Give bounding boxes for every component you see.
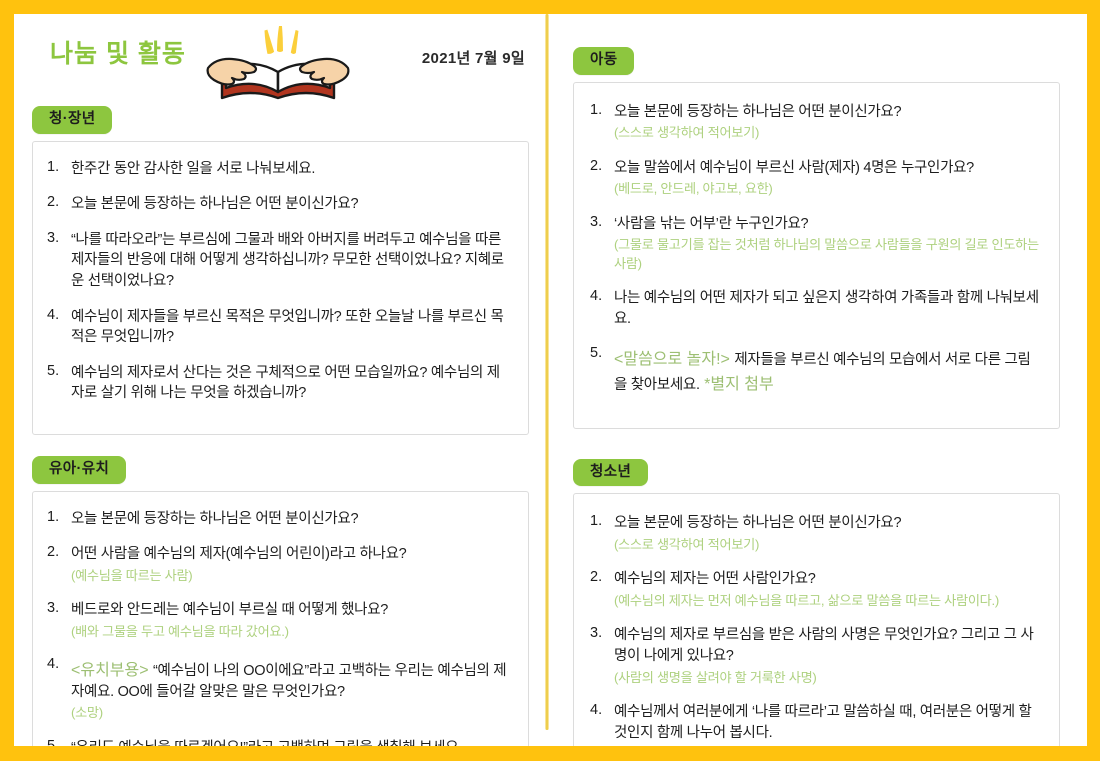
question-text: 어떤 사람을 예수님의 제자(예수님의 어린이)라고 하나요? [71,546,406,562]
worksheet-page: 나눔 및 활동 [14,14,1087,746]
badge-row-youth: 청소년 [573,459,1060,487]
question-text: 한주간 동안 감사한 일을 서로 나눠보세요. [71,161,315,177]
list-item: ‘사람을 낚는 어부’란 누구인가요? (그물로 물고기를 잡는 것처럼 하나님… [590,214,1043,274]
question-text: 예수님께서 여러분에게 ‘나를 따르라’고 말씀하실 때, 여러분은 어떻게 할… [614,704,1032,741]
question-list-adults: 한주간 동안 감사한 일을 서로 나눠보세요. 오늘 본문에 등장하는 하나님은… [47,159,512,404]
question-text: 오늘 본문에 등장하는 하나님은 어떤 분이신가요? [614,515,901,531]
question-note: (스스로 생각하여 적어보기) [614,124,1043,142]
open-book-with-hands-icon [202,22,354,110]
question-note: (소망) [71,704,512,722]
question-list-youth: 오늘 본문에 등장하는 하나님은 어떤 분이신가요? (스스로 생각하여 적어보… [590,513,1043,743]
two-column-layout: 나눔 및 활동 [14,14,1087,746]
list-item: 한주간 동안 감사한 일을 서로 나눠보세요. [47,159,512,180]
question-text: 오늘 본문에 등장하는 하나님은 어떤 분이신가요? [71,511,358,527]
list-item: “나를 따라오라”는 부르심에 그물과 배와 아버지를 버려두고 예수님을 따른… [47,230,512,292]
question-note: (그물로 물고기를 잡는 것처럼 하나님의 말씀으로 사람들을 구원의 길로 인… [614,236,1043,273]
list-item: <말씀으로 놀자!> 제자들을 부르신 예수님의 모습에서 서로 다른 그림을 … [590,345,1043,396]
question-note: (사람의 생명을 살려야 할 거룩한 사명) [614,669,1043,687]
list-item: 나는 예수님의 어떤 제자가 되고 싶은지 생각하여 가족들과 함께 나눠보세요… [590,288,1043,329]
question-list-preschool: 오늘 본문에 등장하는 하나님은 어떤 분이신가요? 어떤 사람을 예수님의 제… [47,509,512,746]
category-badge-children: 아동 [573,47,634,75]
question-text: 예수님의 제자로 부르심을 받은 사람의 사명은 무엇인가요? 그리고 그 사명… [614,627,1033,664]
section-adults: 청·장년 한주간 동안 감사한 일을 서로 나눠보세요. 오늘 본문에 등장하는… [32,106,529,435]
section-preschool: 유아·유치 오늘 본문에 등장하는 하나님은 어떤 분이신가요? 어떤 사람을 … [32,456,529,746]
list-item: 오늘 본문에 등장하는 하나님은 어떤 분이신가요? (스스로 생각하여 적어보… [590,102,1043,143]
question-text: 오늘 말씀에서 예수님이 부르신 사람(제자) 4명은 누구인가요? [614,160,974,176]
list-item: 예수님의 제자는 어떤 사람인가요? (예수님의 제자는 먼저 예수님을 따르고… [590,569,1043,610]
question-text: ‘사람을 낚는 어부’란 누구인가요? [614,216,808,232]
question-note: (예수님을 따르는 사람) [71,567,512,585]
question-text: 오늘 본문에 등장하는 하나님은 어떤 분이신가요? [614,104,901,120]
question-card-adults: 한주간 동안 감사한 일을 서로 나눠보세요. 오늘 본문에 등장하는 하나님은… [32,141,529,435]
question-note: (예수님의 제자는 먼저 예수님을 따르고, 삶으로 말씀을 따르는 사람이다.… [614,592,1043,610]
category-badge-youth: 청소년 [573,459,648,487]
category-badge-preschool: 유아·유치 [32,456,126,484]
left-column: 나눔 및 활동 [14,14,545,746]
issue-date: 2021년 7월 9일 [422,47,525,68]
list-item: 예수님의 제자로서 산다는 것은 구체적으로 어떤 모습일까요? 예수님의 제자… [47,363,512,404]
question-note: (베드로, 안드레, 야고보, 요한) [614,180,1043,198]
question-card-youth: 오늘 본문에 등장하는 하나님은 어떤 분이신가요? (스스로 생각하여 적어보… [573,493,1060,746]
question-note: (배와 그물을 두고 예수님을 따라 갔어요.) [71,623,512,641]
question-note: (스스로 생각하여 적어보기) [614,536,1043,554]
masthead: 나눔 및 활동 [32,14,529,106]
badge-row-children: 아동 [573,47,1060,75]
question-tag: <유치부용> [71,662,149,679]
badge-row-preschool: 유아·유치 [32,456,529,484]
list-item: 베드로와 안드레는 예수님이 부르실 때 어떻게 했나요? (배와 그물을 두고… [47,600,512,641]
list-item: 예수님의 제자로 부르심을 받은 사람의 사명은 무엇인가요? 그리고 그 사명… [590,625,1043,687]
question-text: 예수님의 제자로서 산다는 것은 구체적으로 어떤 모습일까요? 예수님의 제자… [71,365,500,402]
list-item: 어떤 사람을 예수님의 제자(예수님의 어린이)라고 하나요? (예수님을 따르… [47,544,512,585]
attachment-note: *별지 첨부 [704,376,774,393]
category-badge-adults: 청·장년 [32,106,112,134]
question-card-preschool: 오늘 본문에 등장하는 하나님은 어떤 분이신가요? 어떤 사람을 예수님의 제… [32,491,529,746]
worksheet-yellow-frame: 나눔 및 활동 [0,0,1100,761]
list-item: 예수님께서 여러분에게 ‘나를 따르라’고 말씀하실 때, 여러분은 어떻게 할… [590,702,1043,743]
list-item: “우리도 예수님을 따르겠어요!”라고 고백하며 그림을 색칠해 보세요. *별… [47,738,512,746]
question-text: 오늘 본문에 등장하는 하나님은 어떤 분이신가요? [71,196,358,212]
right-column: 아동 오늘 본문에 등장하는 하나님은 어떤 분이신가요? (스스로 생각하여 … [545,14,1084,746]
question-text: “우리도 예수님을 따르겠어요!”라고 고백하며 그림을 색칠해 보세요. [71,740,462,746]
section-children: 아동 오늘 본문에 등장하는 하나님은 어떤 분이신가요? (스스로 생각하여 … [573,47,1060,429]
list-item: 오늘 말씀에서 예수님이 부르신 사람(제자) 4명은 누구인가요? (베드로,… [590,158,1043,199]
question-card-children: 오늘 본문에 등장하는 하나님은 어떤 분이신가요? (스스로 생각하여 적어보… [573,82,1060,429]
list-item: <유치부용> “예수님이 나의 OO이에요”라고 고백하는 우리는 예수님의 제… [47,656,512,723]
section-youth: 청소년 오늘 본문에 등장하는 하나님은 어떤 분이신가요? (스스로 생각하여… [573,459,1060,746]
list-item: 오늘 본문에 등장하는 하나님은 어떤 분이신가요? [47,194,512,215]
question-text: 나는 예수님의 어떤 제자가 되고 싶은지 생각하여 가족들과 함께 나눠보세요… [614,290,1039,327]
question-tag: <말씀으로 놀자!> [614,351,730,368]
page-title: 나눔 및 활동 [50,34,186,70]
list-item: 오늘 본문에 등장하는 하나님은 어떤 분이신가요? (스스로 생각하여 적어보… [590,513,1043,554]
question-text: 예수님이 제자들을 부르신 목적은 무엇입니까? 또한 오늘날 나를 부르신 목… [71,309,504,346]
list-item: 오늘 본문에 등장하는 하나님은 어떤 분이신가요? [47,509,512,530]
list-item: 예수님이 제자들을 부르신 목적은 무엇입니까? 또한 오늘날 나를 부르신 목… [47,307,512,348]
question-text: “나를 따라오라”는 부르심에 그물과 배와 아버지를 버려두고 예수님을 따른… [71,232,504,289]
badge-row-adults: 청·장년 [32,106,529,134]
question-list-children: 오늘 본문에 등장하는 하나님은 어떤 분이신가요? (스스로 생각하여 적어보… [590,102,1043,396]
question-text: 예수님의 제자는 어떤 사람인가요? [614,571,816,587]
question-text: 베드로와 안드레는 예수님이 부르실 때 어떻게 했나요? [71,602,388,618]
